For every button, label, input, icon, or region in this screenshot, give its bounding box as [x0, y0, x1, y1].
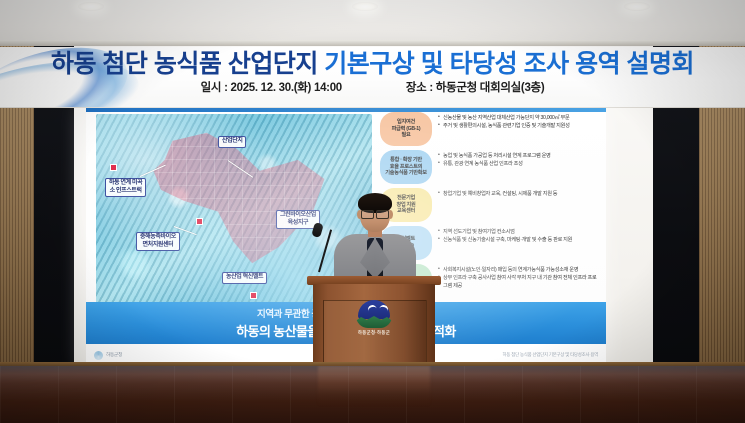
bullet: 사회복지시설(노인·일자리) 매입 등의 연계가능식품 가능성소재 운영 [438, 266, 598, 274]
row-bullets-2: 창업기업 및 예비창업자 교육, 컨설팅, 시제품 개발 지원 등 [432, 188, 598, 198]
banner-place: 장소 : 하동군청 대회의실(3층) [406, 79, 544, 95]
banner-title: 하동 첨단 농식품 산업단지 기본구상 및 타당성 조사 용역 설명회 [0, 47, 745, 80]
ceiling-light-icon [624, 2, 650, 11]
bullet: 신농식품 및 신농기술시설 구축, 마케팅·개발 및 수출 등 판로 지원 [438, 236, 598, 244]
banner-title-part2: 기본구상 및 타당성 조사 용역 설명회 [324, 50, 694, 78]
logo-mark-icon [94, 351, 103, 360]
banner-title-part1: 하동 첨단 농식품 산업단지 [51, 50, 318, 78]
podium-emblem: 하동군청·하동군 [354, 300, 394, 340]
bullet: 창업기업 및 예비창업자 교육, 컨설팅, 시제품 개발 지원 등 [438, 190, 598, 198]
eyeglasses-icon [361, 210, 389, 217]
content-row: 입지여건 파급력 (GB-1) 필요 신농산물 및 농산 지역산업 대체산업 가… [380, 112, 598, 146]
hill-icon [356, 316, 392, 328]
event-banner: 하동 첨단 농식품 산업단지 기본구상 및 타당성 조사 용역 설명회 일시 :… [0, 47, 745, 108]
ceiling-light-icon [78, 2, 104, 11]
slide-footer-right-text: 하동 첨단 농식품 산업단지 기본구상 및 타당성조사 용역 [503, 352, 598, 358]
slide-footer-left-text: 하동군청 [106, 352, 122, 358]
row-pill-0: 입지여건 파급력 (GB-1) 필요 [380, 112, 432, 146]
bullet: 유통, 관광 연계 농식품 산업 인프라 조성 [438, 160, 598, 168]
map-callout-0: 산업단지 [218, 136, 246, 148]
bullet: 지역 선도기업 및 참여기업 컨소시엄 [438, 228, 598, 236]
bullet: 신농산물 및 농산 지역산업 대체산업 가능단지 약 30,000㎡ 부문 [438, 114, 598, 122]
briefing-room-photo: 하동 첨단 농식품 산업단지 기본구상 및 타당성 조사 용역 설명회 일시 :… [0, 0, 745, 423]
row-bullets-4: 사회복지시설(노인·일자리) 매입 등의 연계가능식품 가능성소재 운영 상부 … [432, 264, 598, 290]
content-row: 통합 · 확장 기반 효율 프로스트의 기술농식품 기반확보 농업 및 농식품 … [380, 150, 598, 184]
map-callout-4: 농산업 혁신벨트 [222, 272, 267, 284]
emblem-text: 하동군청·하동군 [354, 330, 394, 336]
bullet: 농업 및 농식품 가공업 등 처리시설 연계 프로그램 운영 [438, 152, 598, 160]
map-callout-3: 중해농축바이오 면처지원센터 [136, 232, 180, 251]
banner-date: 일시 : 2025. 12. 30.(화) 14:00 [201, 79, 342, 95]
floor-reflection-sheen [0, 366, 745, 423]
map-marker-dot [196, 218, 203, 225]
slide-footer-left: 하동군청 [94, 351, 122, 360]
map-marker-dot [250, 292, 257, 299]
banner-subtitle: 일시 : 2025. 12. 30.(화) 14:00 장소 : 하동군청 대회… [0, 79, 745, 95]
ceiling-light-icon [352, 2, 378, 11]
bullet: 주거 및 생활편의시설, 농식품 관련기업 인증 및 기술개발 지원성 [438, 122, 598, 130]
bird-icon [368, 303, 388, 315]
wooden-floor [0, 366, 745, 423]
map-marker-dot [110, 164, 117, 171]
row-pill-1: 통합 · 확장 기반 효율 프로스트의 기술농식품 기반확보 [380, 150, 432, 184]
row-bullets-0: 신농산물 및 농산 지역산업 대체산업 가능단지 약 30,000㎡ 부문 주거… [432, 112, 598, 130]
row-bullets-1: 농업 및 농식품 가공업 등 처리시설 연계 프로그램 운영 유통, 관광 연계… [432, 150, 598, 168]
bullet: 상부 인프라 구축 공사사업 참여 사각 부처 지구 내 기관 참여 전체 인프… [438, 274, 598, 290]
map-callout-2: 하동 연계 미곡 소 인프스트럭 [105, 178, 146, 197]
row-bullets-3: 지역 선도기업 및 참여기업 컨소시엄 신농식품 및 신농기술시설 구축, 마케… [432, 226, 598, 244]
